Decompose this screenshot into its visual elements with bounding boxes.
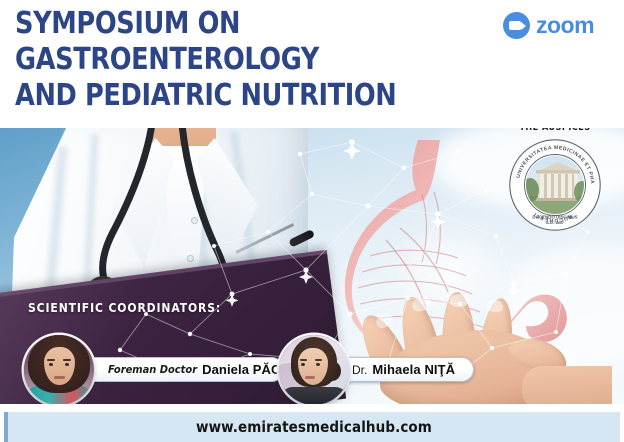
portrait-eyebrow bbox=[315, 359, 322, 361]
hand-wrist bbox=[522, 366, 612, 404]
seal-motto: DOCENDO DISCIMUS bbox=[532, 215, 577, 220]
portrait-photo bbox=[279, 335, 349, 405]
footer-bar: www.emiratesmedicalhub.com bbox=[4, 412, 620, 442]
coordinator-prefix: Foreman Doctor bbox=[108, 363, 197, 376]
portrait-photo bbox=[24, 335, 94, 405]
zoom-video-camera-icon bbox=[503, 12, 530, 39]
portrait-eye bbox=[316, 363, 320, 366]
avatar bbox=[279, 335, 349, 405]
portrait-mouth bbox=[54, 376, 65, 379]
camera-lens bbox=[521, 22, 526, 30]
coordinator-name: Daniela PĂCURAR bbox=[202, 362, 284, 377]
avatar bbox=[24, 335, 94, 405]
coordinator-prefix: Dr. bbox=[352, 363, 367, 377]
portrait-eyebrow bbox=[300, 359, 307, 361]
zoom-wordmark: zoom bbox=[536, 14, 594, 37]
conference-poster: SYMPOSIUM ON GASTROENTEROLOGY AND PEDIAT… bbox=[0, 0, 624, 442]
poster-footer: www.emiratesmedicalhub.com bbox=[0, 404, 624, 442]
portrait-eyebrow bbox=[47, 359, 55, 361]
coordinator-name: Mihaela NIŢĂ bbox=[372, 362, 455, 377]
camera-body bbox=[509, 21, 521, 30]
page-title: SYMPOSIUM ON GASTROENTEROLOGY AND PEDIAT… bbox=[15, 6, 509, 114]
coordinators-section-label: SCIENTIFIC COORDINATORS: bbox=[28, 301, 221, 315]
seal-founded: A.D. 1857 bbox=[546, 220, 565, 225]
coordinator-name-pill: Foreman Doctor Daniela PĂCURAR bbox=[62, 357, 284, 382]
portrait-mouth bbox=[305, 376, 315, 379]
open-hand bbox=[352, 278, 602, 404]
portrait-garment bbox=[279, 387, 349, 405]
portrait-eyebrow bbox=[63, 359, 71, 361]
auspices-block: UNDER THE AUSPICES bbox=[500, 112, 610, 240]
zoom-logo: zoom bbox=[503, 10, 601, 40]
portrait-eye bbox=[301, 363, 305, 366]
portrait-eye bbox=[49, 363, 53, 366]
university-seal-icon: UNIVERSITATEA MEDICINAE ET PHARMACIAE · … bbox=[508, 138, 602, 232]
poster-header: SYMPOSIUM ON GASTROENTEROLOGY AND PEDIAT… bbox=[0, 0, 624, 128]
portrait-eye bbox=[65, 363, 69, 366]
website-url[interactable]: www.emiratesmedicalhub.com bbox=[196, 418, 432, 436]
fingernail bbox=[450, 294, 468, 307]
